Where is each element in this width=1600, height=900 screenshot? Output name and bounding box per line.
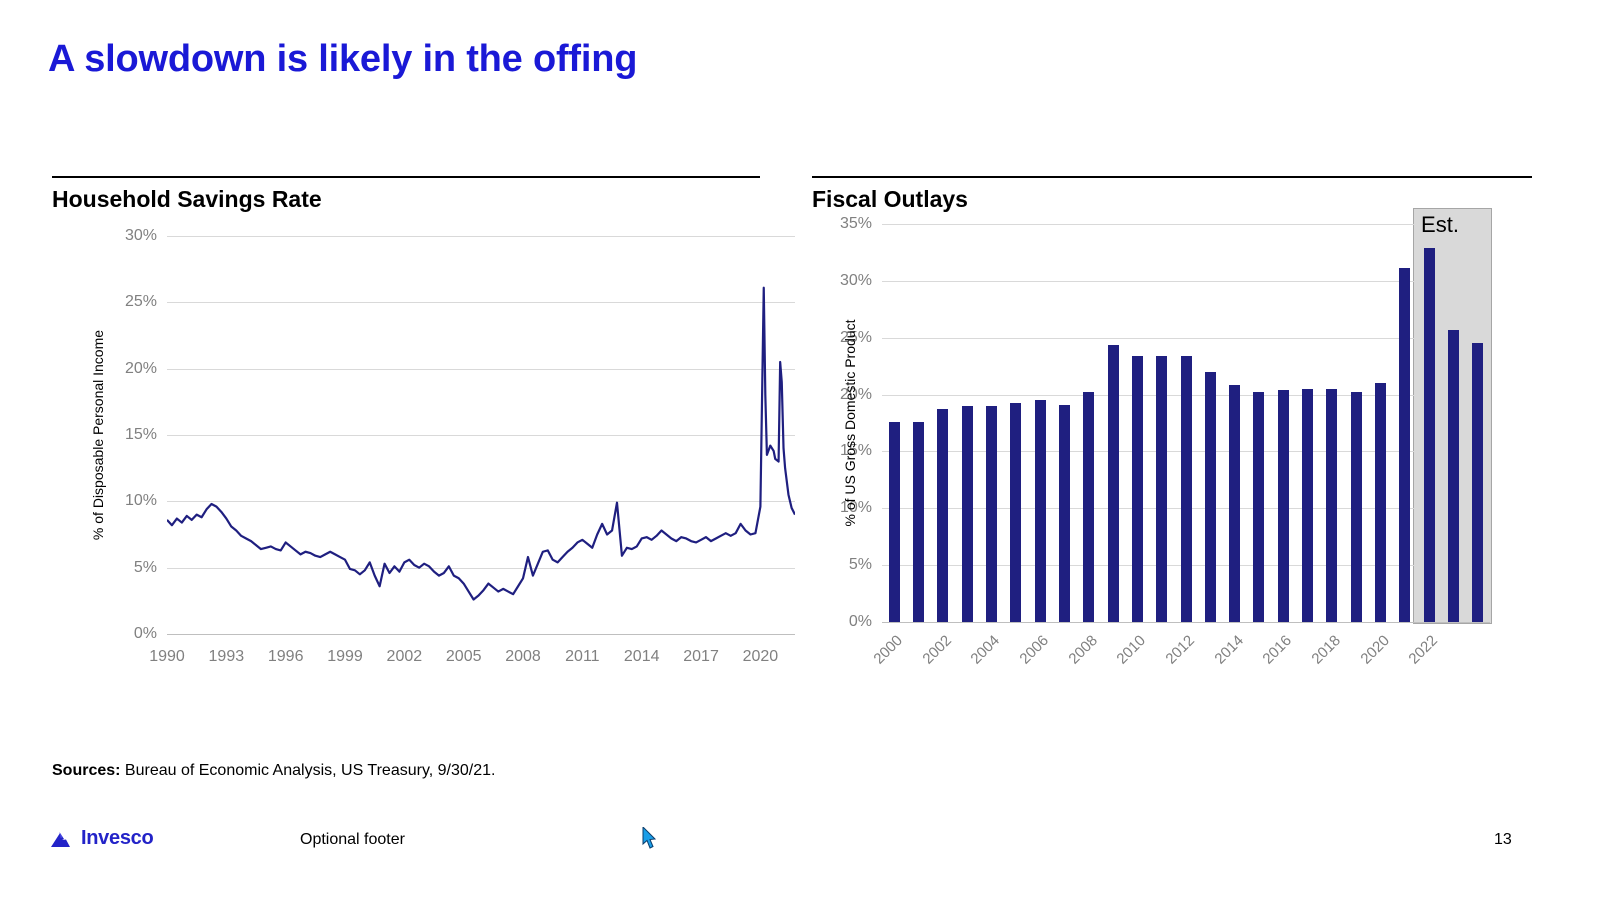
x-tick-right-2002: 2002 bbox=[915, 632, 955, 672]
x-tick-left-2008: 2008 bbox=[505, 648, 541, 666]
x-tick-right-2006: 2006 bbox=[1012, 632, 1052, 672]
y-axis-label-left: % of Disposable Personal Income bbox=[90, 236, 106, 634]
y-tick-left-30%: 30% bbox=[105, 227, 157, 245]
x-tick-right-2004: 2004 bbox=[963, 632, 1003, 672]
bar-2022 bbox=[1424, 248, 1435, 622]
x-tick-right-2008: 2008 bbox=[1060, 632, 1100, 672]
bar-chart-fiscal-outlays: 0%5%10%15%20%25%30%35%Est.20002002200420… bbox=[882, 224, 1490, 622]
line-chart-household-savings-rate: 0%5%10%15%20%25%30%199019931996199920022… bbox=[167, 236, 795, 634]
y-tick-left-25%: 25% bbox=[105, 293, 157, 311]
bar-2010 bbox=[1132, 356, 1143, 622]
x-tick-left-2005: 2005 bbox=[446, 648, 482, 666]
bar-2009 bbox=[1108, 345, 1119, 622]
x-tick-right-2022: 2022 bbox=[1401, 632, 1441, 672]
bar-2006 bbox=[1035, 400, 1046, 622]
x-tick-right-2020: 2020 bbox=[1352, 632, 1392, 672]
mouse-cursor bbox=[642, 827, 658, 849]
x-tick-left-2020: 2020 bbox=[743, 648, 779, 666]
x-tick-left-1996: 1996 bbox=[268, 648, 304, 666]
bar-2000 bbox=[889, 422, 900, 622]
bar-2020 bbox=[1375, 383, 1386, 622]
sources-line: Sources: Bureau of Economic Analysis, US… bbox=[52, 762, 495, 780]
page-number: 13 bbox=[1494, 831, 1512, 849]
gridline-left-0% bbox=[167, 634, 795, 635]
panel-fiscal-outlays: Fiscal Outlays 0%5%10%15%20%25%30%35%Est… bbox=[812, 176, 1532, 696]
chart-title-household-savings-rate: Household Savings Rate bbox=[52, 186, 322, 213]
x-tick-left-2011: 2011 bbox=[565, 648, 599, 666]
estimate-label: Est. bbox=[1421, 212, 1459, 238]
invesco-mountain-icon bbox=[50, 829, 76, 849]
panel-divider-right bbox=[812, 176, 1532, 178]
bar-2016 bbox=[1278, 390, 1289, 622]
x-tick-right-2000: 2000 bbox=[866, 632, 906, 672]
panel-divider-left bbox=[52, 176, 760, 178]
x-tick-left-1993: 1993 bbox=[209, 648, 245, 666]
x-tick-right-2018: 2018 bbox=[1304, 632, 1344, 672]
footer-text: Optional footer bbox=[300, 831, 405, 849]
bar-2015 bbox=[1253, 392, 1264, 622]
x-tick-right-2016: 2016 bbox=[1255, 632, 1295, 672]
page-title: A slowdown is likely in the offing bbox=[48, 38, 637, 81]
x-tick-right-2010: 2010 bbox=[1109, 632, 1149, 672]
bar-2021 bbox=[1399, 268, 1410, 622]
y-tick-left-0%: 0% bbox=[105, 625, 157, 643]
bar-2014 bbox=[1229, 385, 1240, 622]
series-household-savings-rate bbox=[167, 236, 795, 634]
x-tick-right-2012: 2012 bbox=[1158, 632, 1198, 672]
y-tick-left-10%: 10% bbox=[105, 492, 157, 510]
bar-2001 bbox=[913, 422, 924, 622]
y-tick-left-15%: 15% bbox=[105, 426, 157, 444]
x-tick-left-1990: 1990 bbox=[149, 648, 185, 666]
invesco-logo: Invesco bbox=[50, 827, 153, 850]
bar-2003 bbox=[962, 406, 973, 622]
gridline-right-0% bbox=[882, 622, 1490, 623]
y-tick-left-5%: 5% bbox=[105, 559, 157, 577]
x-tick-left-2014: 2014 bbox=[624, 648, 660, 666]
gridline-right-35% bbox=[882, 224, 1490, 225]
sources-text: Bureau of Economic Analysis, US Treasury… bbox=[120, 762, 495, 779]
bar-2019 bbox=[1351, 392, 1362, 622]
x-tick-left-2017: 2017 bbox=[683, 648, 719, 666]
bar-2004 bbox=[986, 406, 997, 622]
bar-2008 bbox=[1083, 392, 1094, 622]
y-tick-left-20%: 20% bbox=[105, 360, 157, 378]
bar-2012 bbox=[1181, 356, 1192, 622]
x-tick-right-2014: 2014 bbox=[1206, 632, 1246, 672]
invesco-wordmark: Invesco bbox=[81, 827, 153, 850]
bar-2002 bbox=[937, 409, 948, 622]
bar-2018 bbox=[1326, 389, 1337, 622]
bar-2017 bbox=[1302, 389, 1313, 622]
bar-2007 bbox=[1059, 405, 1070, 622]
bar-2013 bbox=[1205, 372, 1216, 622]
bar-2005 bbox=[1010, 403, 1021, 622]
bar-2011 bbox=[1156, 356, 1167, 622]
bar-2023 bbox=[1448, 330, 1459, 622]
panel-household-savings-rate: Household Savings Rate 0%5%10%15%20%25%3… bbox=[52, 176, 760, 696]
slide: A slowdown is likely in the offing House… bbox=[0, 0, 1600, 900]
x-tick-left-1999: 1999 bbox=[327, 648, 363, 666]
bar-idx-24 bbox=[1472, 343, 1483, 622]
sources-label: Sources: bbox=[52, 762, 120, 779]
x-tick-left-2002: 2002 bbox=[387, 648, 423, 666]
y-axis-label-right: % of US Gross Domestic Product bbox=[842, 224, 858, 622]
chart-title-fiscal-outlays: Fiscal Outlays bbox=[812, 186, 968, 213]
